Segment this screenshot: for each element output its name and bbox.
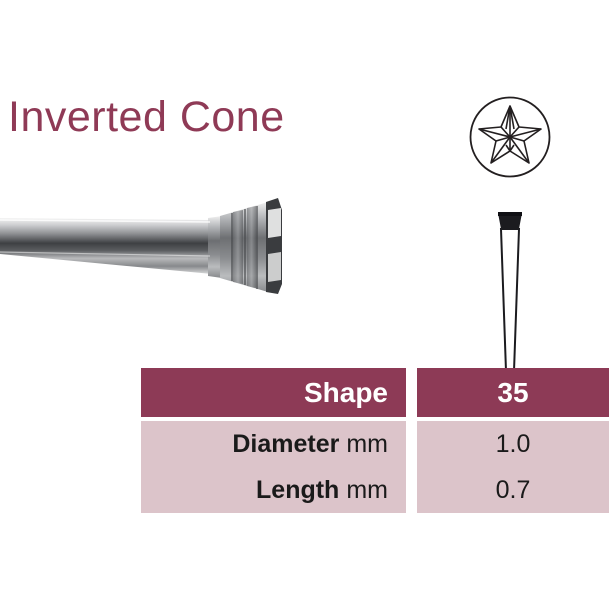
column-gap <box>406 467 417 513</box>
diameter-unit: mm <box>346 430 388 459</box>
length-unit: mm <box>346 476 388 505</box>
inverted-cone-bur-photo <box>0 196 300 296</box>
table-header-row: Shape 35 <box>141 368 609 417</box>
column-gap <box>406 421 417 467</box>
column-gap <box>406 368 417 417</box>
length-label: Length <box>256 476 339 505</box>
length-label-cell: Length mm <box>141 467 406 513</box>
table-header-value: 35 <box>417 368 609 417</box>
diameter-label: Diameter <box>232 430 339 459</box>
cross-section-icon <box>469 96 551 178</box>
table-row: Length mm 0.7 <box>141 467 609 513</box>
spec-table: Shape 35 Diameter mm 1.0 Length mm 0.7 <box>141 368 609 514</box>
diameter-value: 1.0 <box>417 421 609 467</box>
page-title: Inverted Cone <box>8 96 285 139</box>
diameter-label-cell: Diameter mm <box>141 421 406 467</box>
table-header-label: Shape <box>141 368 406 417</box>
table-row: Diameter mm 1.0 <box>141 421 609 467</box>
length-value: 0.7 <box>417 467 609 513</box>
inverted-cone-bur-profile-icon <box>478 205 542 375</box>
